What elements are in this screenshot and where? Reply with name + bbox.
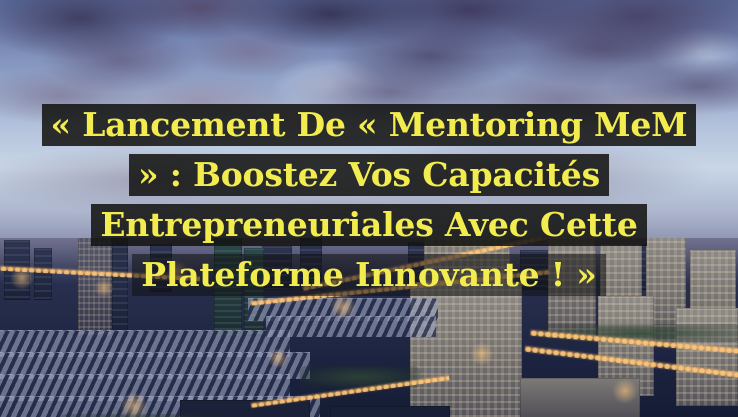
headline-line-4: Plateforme Innovante ! » — [0, 254, 738, 304]
hero-banner: « Lancement De « Mentoring MeM » : Boost… — [0, 0, 738, 417]
building-residential — [676, 308, 738, 406]
headline-line-1-text: « Lancement De « Mentoring MeM — [42, 104, 697, 146]
building-foreground — [330, 406, 450, 417]
headline-line-3-text: Entrepreneuriales Avec Cette — [91, 204, 646, 246]
light-glow — [268, 348, 288, 368]
light-glow — [470, 342, 494, 366]
headline-line-3: Entrepreneuriales Avec Cette — [0, 204, 738, 254]
headline-line-2-text: » : Boostez Vos Capacités — [129, 154, 609, 196]
headline-line-4-text: Plateforme Innovante ! » — [132, 254, 605, 296]
light-glow — [612, 378, 638, 404]
headline-line-2: » : Boostez Vos Capacités — [0, 154, 738, 204]
headline: « Lancement De « Mentoring MeM » : Boost… — [0, 104, 738, 304]
headline-line-1: « Lancement De « Mentoring MeM — [0, 104, 738, 154]
market-roof-row — [266, 316, 436, 337]
light-glow — [120, 392, 148, 417]
